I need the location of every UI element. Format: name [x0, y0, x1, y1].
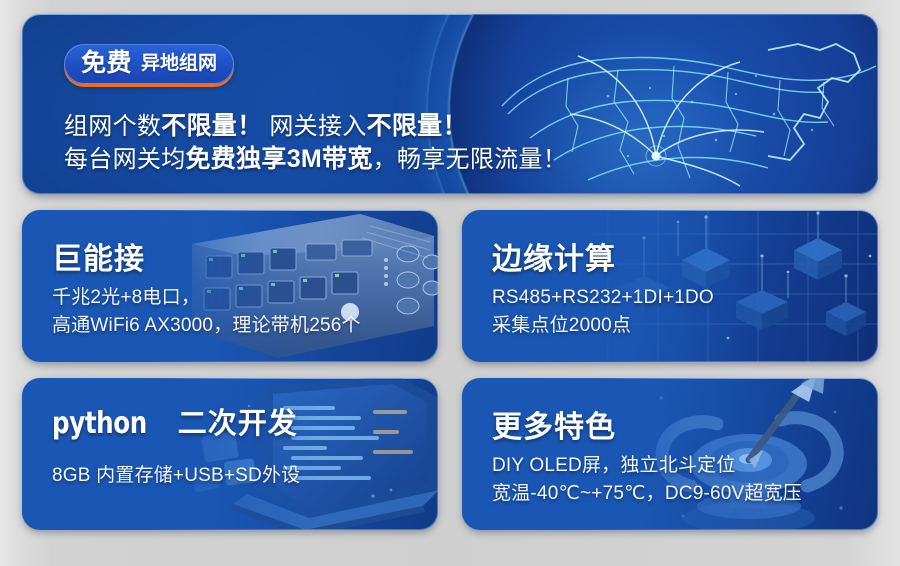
card-title-edge-computing: 边缘计算	[492, 234, 616, 278]
banner-line-2: 每台网关均免费独享3M带宽，畅享无限流量！	[64, 143, 567, 176]
feature-card-python-dev[interactable]: python 二次开发 8GB 内置存储+USB+SD外设	[22, 378, 438, 530]
poster-stage: 免费 异地组网 组网个数不限量！ 网关接入不限量！ 每台网关均免费独享3M带宽，…	[0, 0, 900, 566]
feature-card-edge-computing[interactable]: 边缘计算 RS485+RS232+1DI+1DO 采集点位2000点	[462, 210, 878, 362]
card-desc-line: RS485+RS232+1DI+1DO	[492, 284, 714, 312]
banner-line-1-bold-2: 不限量！	[367, 112, 468, 140]
badge-sub-label: 异地组网	[141, 54, 217, 73]
card-title-python-dev-cn: 二次开发	[178, 400, 298, 442]
badge-main-label: 免费	[81, 51, 132, 76]
card-desc-line: 宽温-40℃~+75℃，DC9-60V超宽压	[492, 480, 802, 508]
banner-line-1-bold-1: 不限量！	[161, 112, 262, 140]
feature-card-more-features[interactable]: 更多特色 DIY OLED屏，独立北斗定位 宽温-40℃~+75℃，DC9-60…	[462, 378, 878, 530]
card-title-connectivity: 巨能接	[52, 234, 145, 278]
banner-line-1-pre: 组网个数	[64, 113, 161, 140]
card-desc-python-dev: 8GB 内置存储+USB+SD外设	[52, 462, 300, 490]
banner-card-free-networking[interactable]: 免费 异地组网 组网个数不限量！ 网关接入不限量！ 每台网关均免费独享3M带宽，…	[22, 14, 878, 194]
banner-line-1-mid: 网关接入	[262, 113, 366, 140]
card-desc-line: 高通WiFi6 AX3000，理论带机256个	[52, 312, 361, 340]
card-desc-connectivity: 千兆2光+8电口， 高通WiFi6 AX3000，理论带机256个	[52, 284, 361, 340]
card-desc-more-features: DIY OLED屏，独立北斗定位 宽温-40℃~+75℃，DC9-60V超宽压	[492, 452, 802, 508]
card-desc-line: DIY OLED屏，独立北斗定位	[492, 452, 802, 480]
banner-line-2-mid: ，畅享无限流量！	[373, 146, 567, 173]
card-title-more-features: 更多特色	[492, 402, 616, 446]
banner-line-2-bold-1: 免费独享3M带宽	[186, 145, 373, 173]
banner-text-block: 组网个数不限量！ 网关接入不限量！ 每台网关均免费独享3M带宽，畅享无限流量！	[64, 110, 567, 176]
card-desc-line: 8GB 内置存储+USB+SD外设	[52, 462, 300, 490]
free-networking-badge[interactable]: 免费 异地组网	[64, 44, 234, 84]
banner-line-1: 组网个数不限量！ 网关接入不限量！	[64, 110, 567, 143]
card-desc-edge-computing: RS485+RS232+1DI+1DO 采集点位2000点	[492, 284, 714, 340]
feature-card-connectivity[interactable]: 巨能接 千兆2光+8电口， 高通WiFi6 AX3000，理论带机256个	[22, 210, 438, 362]
banner-line-2-pre: 每台网关均	[64, 146, 186, 173]
card-desc-line: 采集点位2000点	[492, 312, 714, 340]
card-title-python-dev: python 二次开发	[52, 400, 298, 442]
python-wordmark: python	[52, 406, 147, 441]
card-desc-line: 千兆2光+8电口，	[52, 284, 361, 312]
